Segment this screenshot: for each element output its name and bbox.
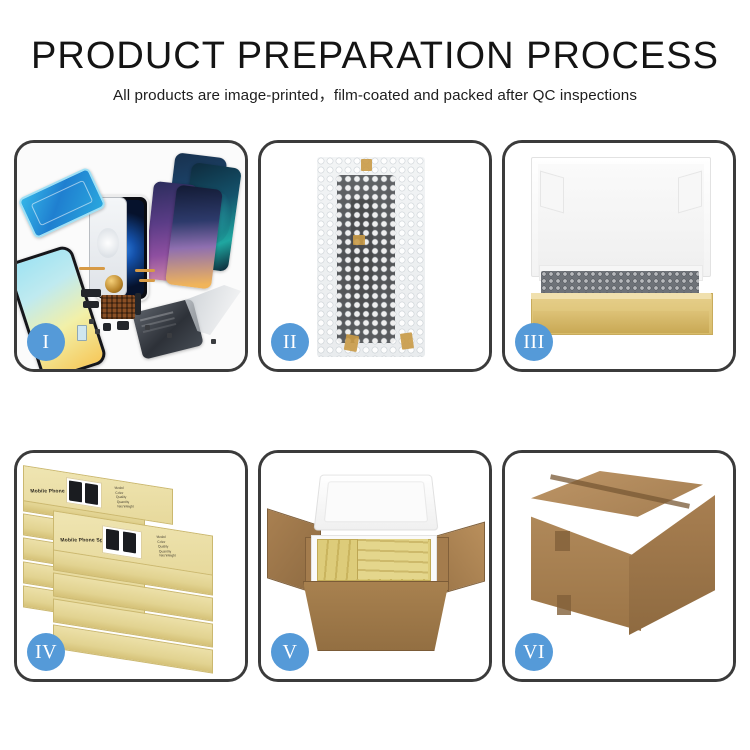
foam-box-lid xyxy=(313,475,438,531)
screw-part xyxy=(167,333,172,338)
tape-piece xyxy=(361,159,372,171)
page-subtitle: All products are image-printed，film-coat… xyxy=(0,86,750,106)
step-panel-4[interactable]: Mobile Phone Spare Parts Model Color Qua… xyxy=(14,450,248,682)
header: PRODUCT PREPARATION PROCESS All products… xyxy=(0,34,750,106)
tape-piece xyxy=(344,334,360,352)
screen-thumbnail xyxy=(106,529,119,551)
carton-tape-patch xyxy=(555,531,570,551)
step-panel-2[interactable]: II xyxy=(258,140,492,372)
pcb-board-part xyxy=(101,295,135,319)
step-panel-6[interactable]: VI xyxy=(502,450,736,682)
step-badge-3: III xyxy=(515,323,553,361)
process-steps-grid: I II xyxy=(14,140,736,682)
screen-thumbnail xyxy=(69,480,82,502)
carton-right-face xyxy=(629,495,715,635)
sim-tray-part xyxy=(77,325,87,341)
button-part xyxy=(103,323,111,331)
flex-cable-part xyxy=(135,269,155,272)
flex-cable-part xyxy=(79,267,105,270)
box-lid-tab-right xyxy=(678,171,702,214)
step-panel-1[interactable]: I xyxy=(14,140,248,372)
product-preparation-infographic: PRODUCT PREPARATION PROCESS All products… xyxy=(0,0,750,750)
step-badge-2: II xyxy=(271,323,309,361)
tape-piece xyxy=(353,235,365,245)
step-badge-4: IV xyxy=(27,633,65,671)
screen-thumbnail xyxy=(123,531,136,553)
box-product-photo xyxy=(66,477,102,509)
screw-part xyxy=(95,329,100,334)
connector-part xyxy=(81,289,101,297)
box-spec-text: Model Color Quality Quantity Net Weight xyxy=(114,486,134,509)
step-badge-6: VI xyxy=(515,633,553,671)
sealed-carton xyxy=(519,471,715,653)
camera-module-part xyxy=(117,321,129,330)
step-badge-5: V xyxy=(271,633,309,671)
screw-part xyxy=(89,319,94,324)
bubble-wrap-bag xyxy=(317,157,425,357)
carton-front-wall xyxy=(303,581,449,651)
carton-tape-patch xyxy=(557,595,571,615)
connector-part xyxy=(83,301,99,308)
tape-piece xyxy=(400,332,414,350)
kraft-box-front-face xyxy=(533,311,709,333)
box-lid-tab-left xyxy=(540,171,564,214)
box-lid-open xyxy=(531,157,711,277)
step-badge-1: I xyxy=(27,323,65,361)
flex-cable-part xyxy=(139,279,155,282)
page-title: PRODUCT PREPARATION PROCESS xyxy=(0,34,750,78)
box-spec-text: Model Color Quality Quantity Net Weight xyxy=(156,535,176,558)
screw-part xyxy=(211,339,216,344)
screw-part xyxy=(145,325,150,330)
step-panel-3[interactable]: III xyxy=(502,140,736,372)
carton-left-face xyxy=(531,501,641,631)
bubble-wrap-texture xyxy=(317,157,425,357)
step-panel-5[interactable]: V xyxy=(258,450,492,682)
screen-thumbnail xyxy=(85,483,98,505)
kraft-box-top-edge xyxy=(531,293,711,299)
ribbon-cable-part xyxy=(135,293,141,315)
packed-product-boxes xyxy=(357,539,428,579)
speaker-coil-part xyxy=(105,275,123,293)
